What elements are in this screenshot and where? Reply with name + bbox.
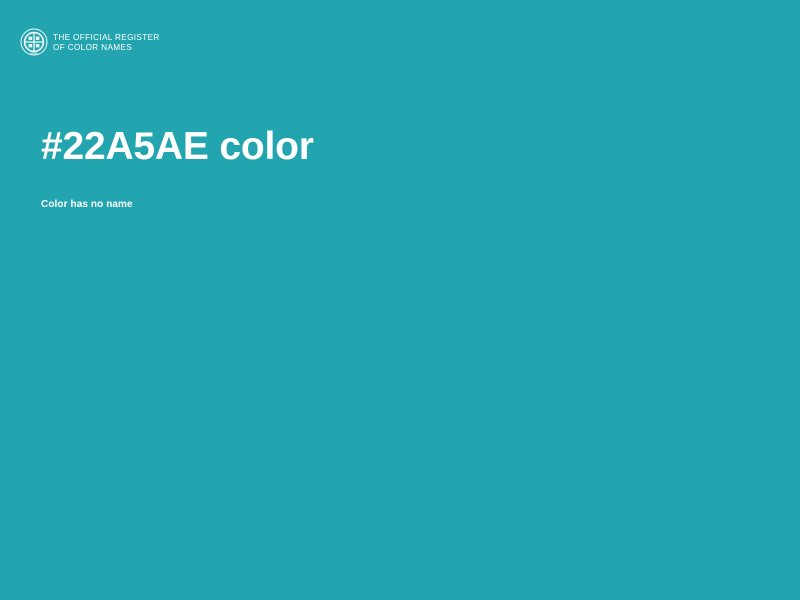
color-page: THE OFFICIAL REGISTER OF COLOR NAMES #22… bbox=[0, 0, 800, 600]
color-info-block: #22A5AE color Color has no name bbox=[41, 124, 741, 212]
brand-logo-link[interactable]: THE OFFICIAL REGISTER OF COLOR NAMES bbox=[20, 28, 160, 56]
brand-wordmark: THE OFFICIAL REGISTER OF COLOR NAMES bbox=[53, 32, 160, 53]
brand-wordmark-line-2: OF COLOR NAMES bbox=[53, 43, 160, 53]
brand-wordmark-line-1: THE OFFICIAL REGISTER bbox=[53, 33, 160, 43]
page-title: #22A5AE color bbox=[41, 124, 741, 170]
color-name-status: Color has no name bbox=[41, 170, 741, 212]
register-seal-icon bbox=[20, 28, 48, 56]
